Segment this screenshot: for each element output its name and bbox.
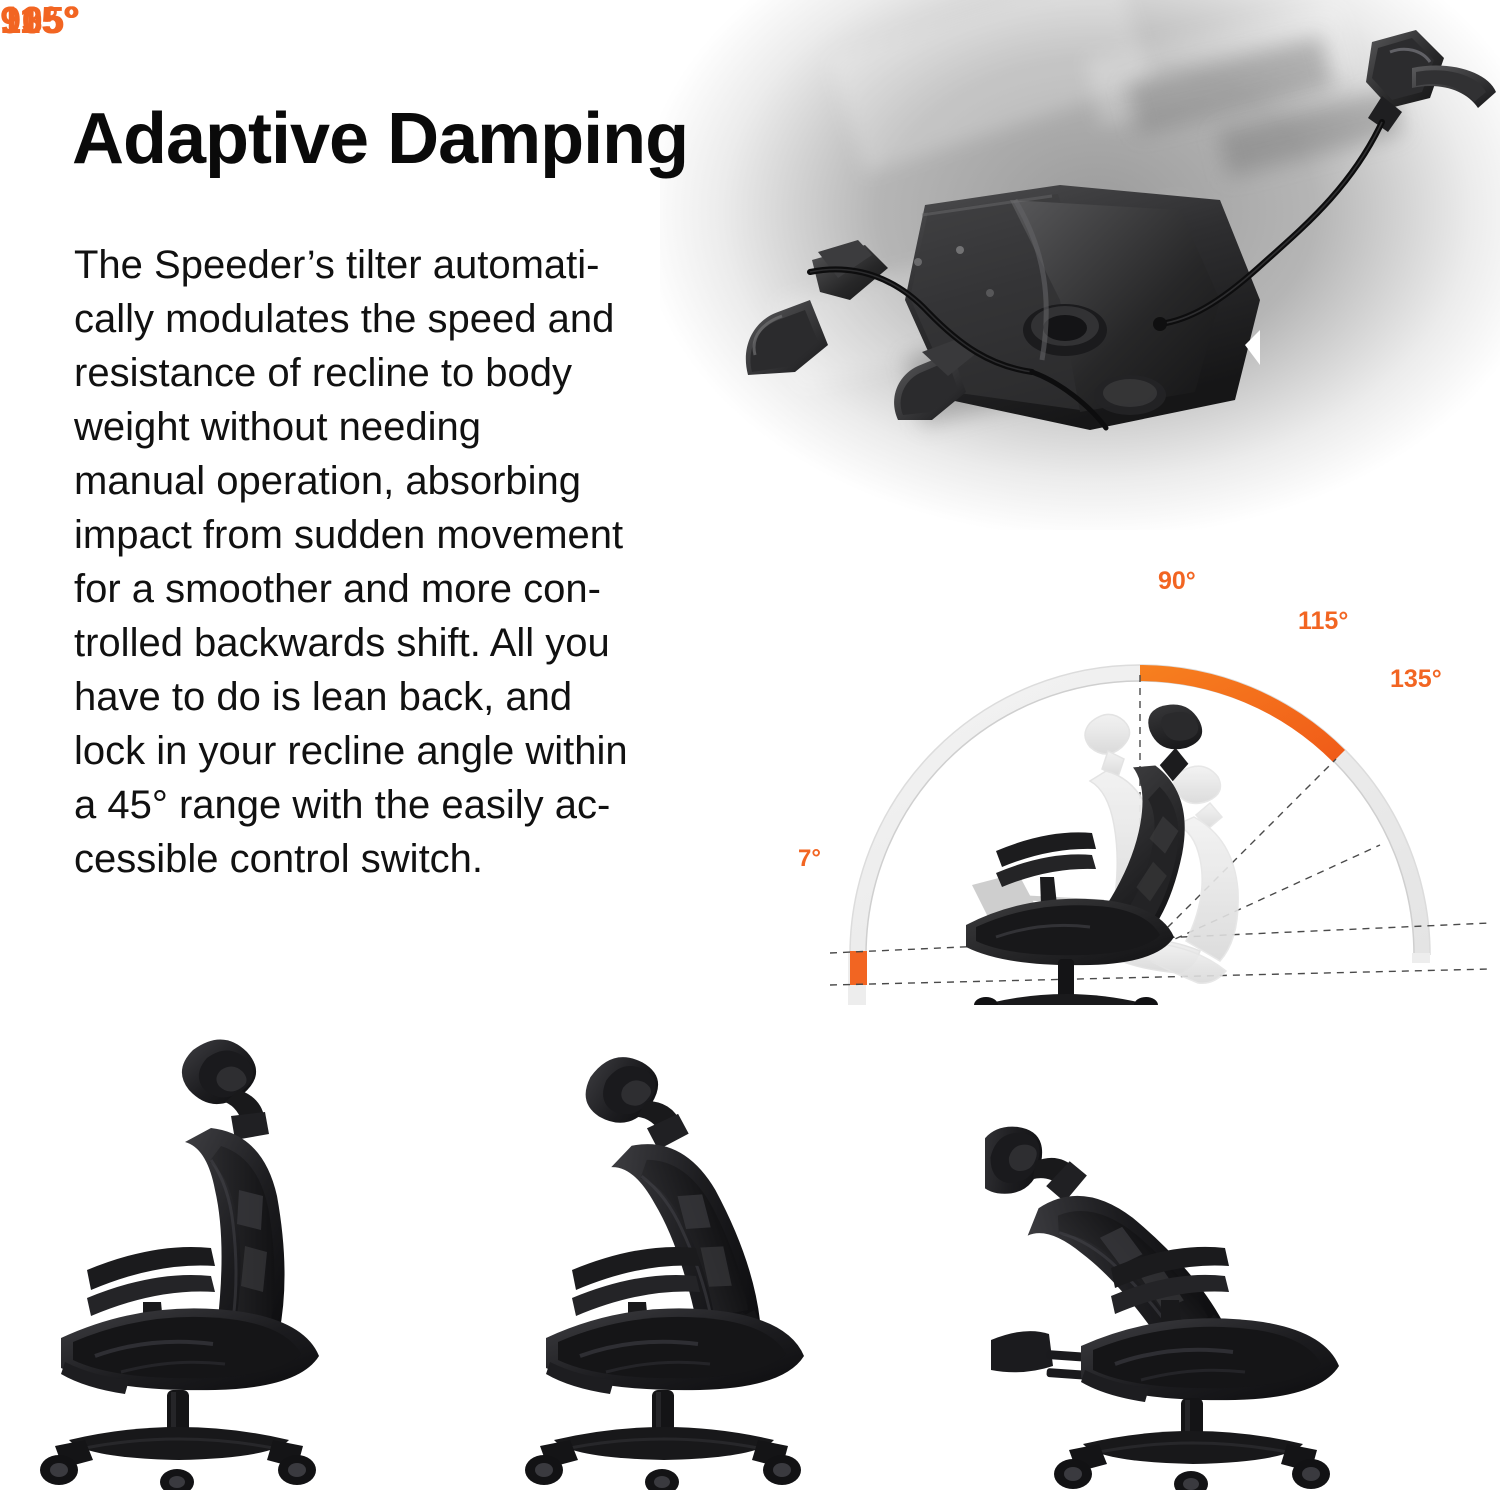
body-line: have to do is lean back, and <box>74 670 714 724</box>
remote-control-switch <box>1366 30 1496 132</box>
arc-tilt-marker-7deg <box>850 951 867 985</box>
body-line: lock in your recline angle within <box>74 724 714 778</box>
body-line: resistance of recline to body <box>74 346 714 400</box>
chair-figure-115 <box>510 1020 970 1490</box>
headrest <box>182 1039 269 1140</box>
chair-label-135: 135° <box>0 0 81 43</box>
page-title: Adaptive Damping <box>72 98 688 180</box>
body-line: weight without needing <box>74 400 714 454</box>
body-line: a 45° range with the easily ac- <box>74 778 714 832</box>
arc-label-135: 135° <box>1390 665 1442 694</box>
body-line: manual operation, absorbing <box>74 454 714 508</box>
lever-paddle-left <box>746 240 888 375</box>
chair-figure-90 <box>25 1020 485 1490</box>
body-line: for a smoother and more con- <box>74 562 714 616</box>
seat <box>546 1308 804 1394</box>
body-line: trolled backwards shift. All you <box>74 616 714 670</box>
wheel-base <box>1069 1431 1317 1472</box>
body-line: cally modulates the speed and <box>74 292 714 346</box>
arc-label-7: 7° <box>798 845 821 873</box>
body-line: impact from sudden movement <box>74 508 714 562</box>
body-line: The Speeder’s tilter automati- <box>74 238 714 292</box>
arc-label-115: 115° <box>1298 607 1348 636</box>
recline-angle-arc-diagram: 7° 90° 115° 135° <box>790 555 1490 1005</box>
arc-label-90: 90° <box>1158 567 1196 596</box>
wheel-base <box>55 1427 303 1468</box>
chair-figure-135 <box>985 1020 1445 1490</box>
wheel-base <box>540 1427 788 1468</box>
seat <box>1081 1318 1339 1402</box>
body-line: cessible control switch. <box>74 832 714 886</box>
tilter-mechanism-photo <box>660 0 1500 530</box>
description-paragraph: The Speeder’s tilter automati- cally mod… <box>74 238 714 886</box>
